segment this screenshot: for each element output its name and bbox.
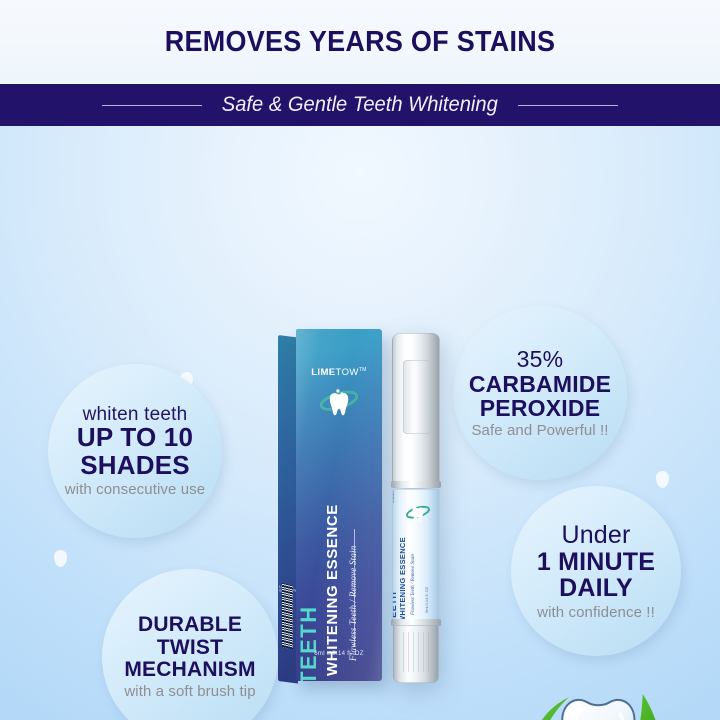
bubble-main-line1: 1 MINUTE — [537, 549, 655, 576]
trademark-mark: TM — [359, 367, 367, 373]
product-pen[interactable]: LIMETOW TEETH WHITENING ESSENCE Flawless… — [390, 333, 442, 683]
pen-title-secondary: WHITENING ESSENCE — [398, 537, 407, 621]
pen-tagline-script: Flawless Teeth / Remove Stain — [411, 554, 416, 615]
carton-front-panel: LIMETOWTM TEETH WHITENING ESSENCE Flawle… — [296, 329, 382, 681]
bubble-note: with confidence !! — [537, 605, 655, 620]
carton-volume-label: 6ml e 0.14 fl. OZ — [296, 651, 382, 657]
pen-brand-logo: LIMETOW — [392, 489, 395, 503]
tagline-band: Safe & Gentle Teeth Whitening — [0, 84, 720, 126]
band-rule-left — [102, 105, 202, 106]
feature-bubble-minute[interactable]: Under 1 MINUTE DAILY with confidence !! — [511, 486, 681, 656]
feature-bubble-carbamide[interactable]: 35% CARBAMIDE PEROXIDE Safe and Powerful… — [453, 306, 627, 480]
bubble-main-line1: CARBAMIDE — [469, 372, 611, 396]
page-title: REMOVES YEARS OF STAINS — [25, 26, 695, 59]
carton-brand-logo: LIMETOWTM — [296, 367, 382, 378]
bubble-main-line2: MECHANISM — [124, 659, 255, 681]
pen-ring-upper — [391, 481, 441, 488]
feature-bubble-shades[interactable]: whiten teeth UP TO 10 SHADES with consec… — [48, 364, 222, 538]
pen-label: LIMETOW TEETH WHITENING ESSENCE Flawless… — [392, 489, 440, 621]
bubble-main-line2: SHADES — [80, 452, 190, 480]
water-droplet — [54, 550, 67, 567]
water-droplet — [656, 471, 669, 488]
bubble-main-line1: DURABLE TWIST — [102, 614, 278, 659]
pen-base — [393, 625, 439, 683]
band-rule-right — [518, 105, 618, 106]
pen-cap — [392, 333, 440, 485]
bubble-note: with consecutive use — [65, 482, 205, 497]
barcode-icon — [282, 583, 293, 650]
tooth-swoosh-icon — [405, 500, 431, 526]
poster-stage: whiten teeth UP TO 10 SHADES with consec… — [0, 126, 720, 720]
pen-base-ribs — [399, 632, 433, 672]
bubble-main-line2: PEROXIDE — [480, 396, 600, 420]
tooth-leaf-logo — [518, 684, 682, 720]
carton-side-panel: LIMETOW 098532 — [278, 335, 298, 683]
bubble-note: with a soft brush tip — [124, 684, 255, 699]
bubble-note: Safe and Powerful !! — [471, 423, 608, 438]
pen-cap-inner-sleeve — [403, 360, 431, 434]
bubble-sub-label: 35% — [517, 347, 564, 371]
bubble-main-line1: UP TO 10 — [77, 424, 193, 452]
product-carton[interactable]: LIMETOW 098532 LIMETOWTM TEETH WHITENING… — [278, 329, 382, 687]
brand-name-light: TOW — [336, 367, 359, 378]
bubble-sub-label: Under — [561, 522, 630, 549]
feature-bubble-twist[interactable]: DURABLE TWIST MECHANISM with a soft brus… — [102, 569, 278, 720]
tooth-swoosh-icon — [318, 381, 360, 423]
tagline-text: Safe & Gentle Teeth Whitening — [209, 93, 512, 117]
carton-tagline-script: Flawless Teeth / Remove Stain — [348, 546, 358, 661]
brand-name-bold: LIME — [311, 367, 335, 378]
carton-title-primary: TEETH — [296, 605, 322, 681]
bubble-main-line2: DAILY — [559, 575, 633, 602]
pen-volume-label: 6ml 0.14 fl. OZ — [424, 587, 429, 613]
product-poster: REMOVES YEARS OF STAINS Safe & Gentle Te… — [0, 0, 720, 720]
